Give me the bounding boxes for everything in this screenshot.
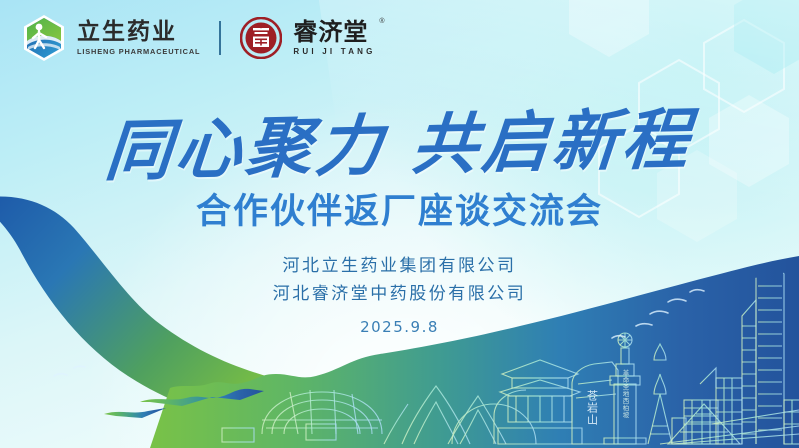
ruijitang-wordmark: 睿济堂 RUI JI TANG ® [293, 20, 375, 56]
ruijitang-seal-icon [240, 17, 282, 59]
cangyan-rock-line-art [572, 362, 618, 444]
event-banner: 苍岩山 革命圣地西柏坡 [0, 0, 799, 448]
tv-tower-line-art [648, 330, 672, 444]
headline: 同心聚力共启新程 [0, 84, 799, 197]
headline-part1: 同心聚力 [102, 106, 389, 190]
ruijitang-name-en: RUI JI TANG [293, 48, 375, 56]
lisheng-hexagon-logo-icon [22, 14, 66, 62]
pagoda-line-art [494, 350, 582, 444]
landmark-label-cangyanshan: 苍岩山 [586, 390, 599, 426]
terrace-pyramid-line-art [668, 404, 740, 444]
monument-column-line-art [604, 333, 646, 444]
podium-line-art [660, 410, 799, 444]
organizer-list: 河北立生药业集团有限公司 河北睿济堂中药股份有限公司 [0, 252, 799, 308]
midrise-buildings-line-art [672, 400, 718, 444]
lisheng-wordmark: 立生药业 LISHENG PHARMACEUTICAL [77, 21, 200, 55]
organizer-line-1: 河北立生药业集团有限公司 [0, 252, 799, 280]
organizer-line-2: 河北睿济堂中药股份有限公司 [0, 280, 799, 308]
headline-part2: 共启新程 [409, 100, 696, 184]
registered-trademark-icon: ® [379, 18, 384, 25]
arch-gate-line-art [452, 404, 536, 444]
lisheng-name-cn: 立生药业 [77, 21, 200, 44]
logo-bar: 立生药业 LISHENG PHARMACEUTICAL [22, 15, 376, 61]
logo-divider [219, 21, 221, 55]
ruijitang-name-cn: 睿济堂 [293, 20, 375, 44]
event-date: 2025.9.8 [0, 318, 799, 336]
lisheng-name-en: LISHENG PHARMACEUTICAL [77, 48, 200, 55]
monument-vertical-text: 革命圣地西柏坡 [621, 368, 629, 419]
stadium-dome-line-art [222, 390, 404, 442]
subtitle: 合作伙伴返厂座谈交流会 [0, 183, 799, 234]
mountain-line-art [384, 386, 506, 444]
